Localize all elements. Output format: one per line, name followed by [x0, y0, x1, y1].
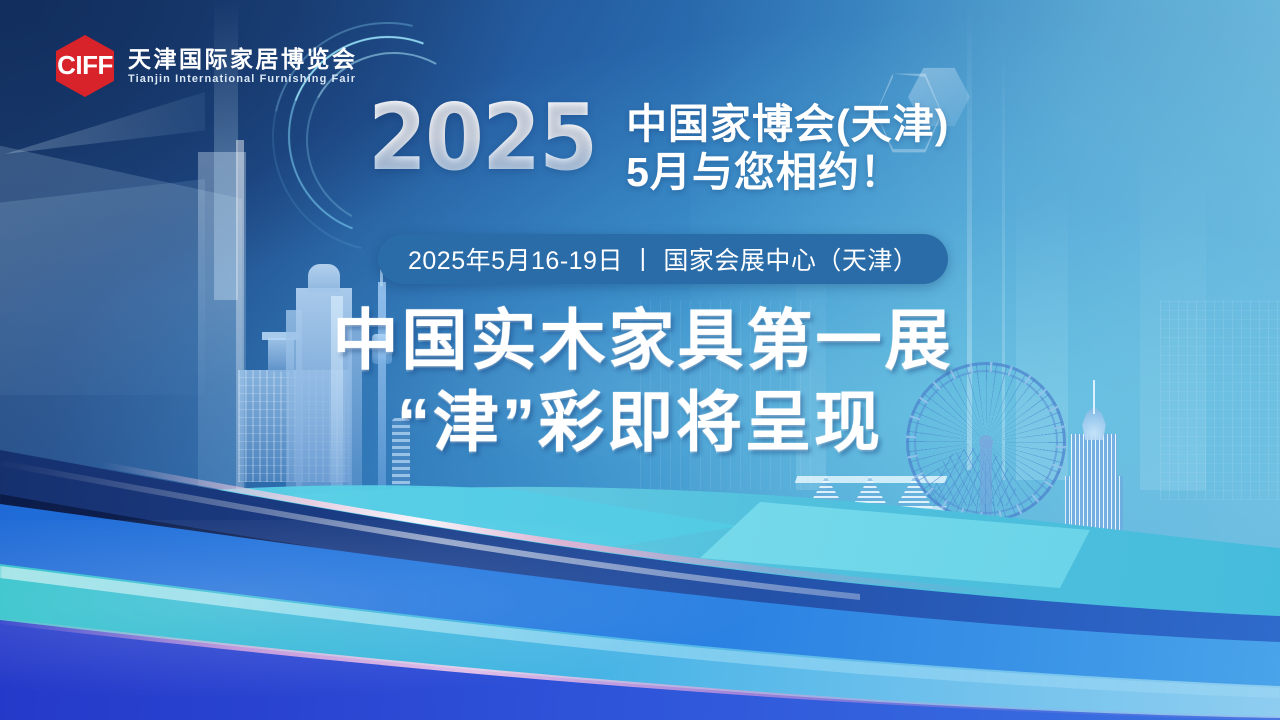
wave-soft-glow: [0, 520, 1280, 720]
skyscraper-spire: [1093, 380, 1095, 414]
headline-block: 2025 中国家博会(天津) 5月与您相约！: [368, 96, 949, 196]
brand-name-cn: 天津国际家居博览会: [128, 48, 358, 71]
brand-name-en: Tianjin International Furnishing Fair: [128, 74, 358, 85]
headline-year: 2025: [368, 96, 596, 181]
main-tower: [296, 288, 352, 498]
headline-text-lines: 中国家博会(天津) 5月与您相约！: [626, 96, 949, 196]
ciff-wordmark: CIFF: [57, 50, 113, 81]
ferris-wheel-icon: [906, 362, 1066, 522]
ferris-wheel-hub: [979, 435, 993, 449]
ciff-hexagon-logo-icon: CIFF: [56, 35, 114, 97]
brand-name-block: 天津国际家居博览会 Tianjin International Furnishi…: [128, 48, 358, 85]
headline-line-2: 5月与您相约！: [626, 150, 949, 196]
tv-tower-icon: [378, 282, 386, 497]
headline-line-1: 中国家博会(天津): [626, 102, 949, 148]
promo-banner: CIFF 天津国际家居博览会 Tianjin International Fur…: [0, 0, 1280, 720]
main-tower-cap: [308, 264, 340, 292]
brand-logo[interactable]: CIFF 天津国际家居博览会 Tianjin International Fur…: [56, 35, 358, 97]
main-tower-slab: [331, 296, 343, 496]
tower-side-right: [348, 322, 362, 498]
event-date-venue-pill: 2025年5月16-19日 丨 国家会展中心（天津）: [378, 234, 948, 284]
